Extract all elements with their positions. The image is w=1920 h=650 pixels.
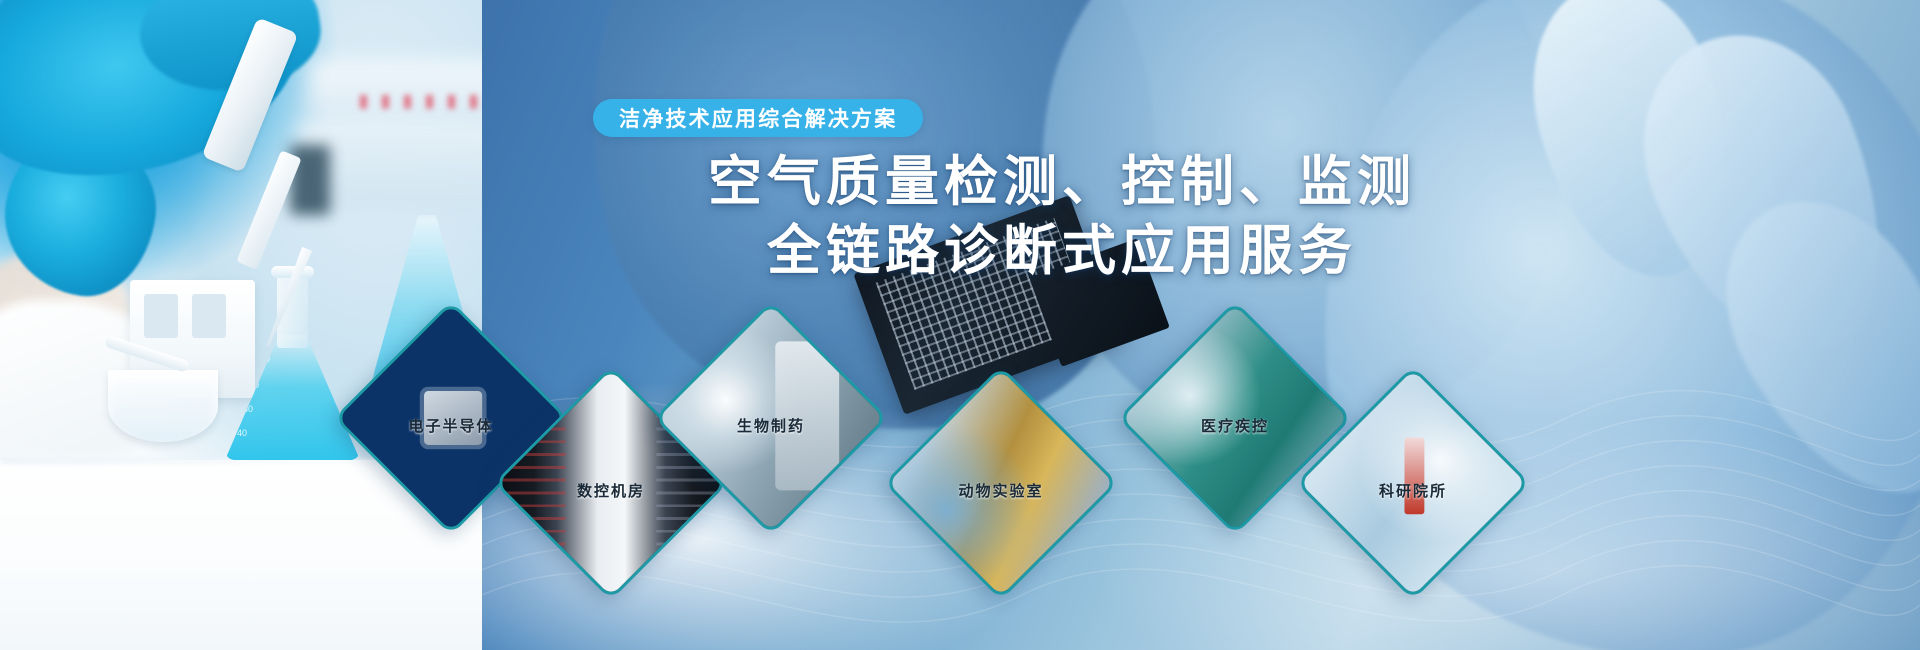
industry-card-research[interactable]: 科研院所 xyxy=(1330,400,1496,566)
industry-card-label: 数控机房 xyxy=(577,480,645,501)
industry-card-label: 科研院所 xyxy=(1379,480,1447,501)
industry-card-biopharma[interactable]: 生物制药 xyxy=(688,335,854,501)
industry-card-label: 动物实验室 xyxy=(958,480,1043,501)
hero-banner: 100 80 60 40 xyxy=(0,0,1920,650)
industry-card-row: 电子半导体 数控机房 生物制药 动物实验 xyxy=(0,0,1920,650)
industry-card-medical[interactable]: 医疗疾控 xyxy=(1152,335,1318,501)
industry-card-label: 电子半导体 xyxy=(408,415,493,436)
industry-card-animal-lab[interactable]: 动物实验室 xyxy=(918,400,1084,566)
industry-card-label: 生物制药 xyxy=(737,415,805,436)
industry-card-label: 医疗疾控 xyxy=(1201,415,1269,436)
